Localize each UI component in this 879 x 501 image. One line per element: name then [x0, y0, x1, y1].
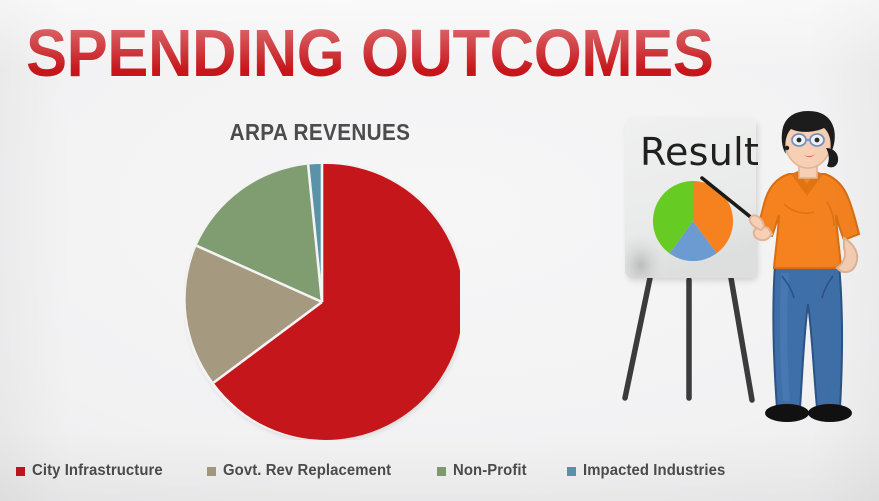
arpa-revenues-pie-chart [184, 164, 460, 440]
legend-label: Govt. Rev Replacement [223, 462, 391, 480]
presenter-illustration: Result [598, 108, 879, 453]
presenter-figure [750, 111, 859, 422]
presenter-hair-bun [826, 148, 838, 167]
presenter-earring-icon [785, 146, 789, 150]
legend-label: Impacted Industries [583, 462, 725, 480]
legend-item-impacted-industries[interactable]: Impacted Industries [567, 462, 736, 480]
slide-canvas: SPENDING OUTCOMES ARPA REVENUES [0, 0, 879, 501]
presenter-shoe-right [808, 404, 852, 422]
legend-item-govt-rev-replacement[interactable]: Govt. Rev Replacement [207, 462, 404, 480]
legend-swatch-icon [16, 467, 25, 476]
legend-item-city-infrastructure[interactable]: City Infrastructure [16, 462, 173, 480]
chart-legend: City Infrastructure Govt. Rev Replacemen… [16, 462, 656, 480]
presenter-shoe-left [765, 404, 809, 422]
presenter-eye-left [797, 138, 802, 143]
legend-label: City Infrastructure [32, 462, 163, 480]
legend-swatch-icon [207, 467, 216, 476]
presenter-eye-right [815, 138, 820, 143]
legend-swatch-icon [567, 467, 576, 476]
pie-svg [184, 164, 460, 440]
easel-legs [625, 278, 752, 400]
legend-swatch-icon [437, 467, 446, 476]
legend-item-non-profit[interactable]: Non-Profit [437, 462, 532, 480]
page-title: SPENDING OUTCOMES [26, 16, 713, 92]
legend-label: Non-Profit [453, 462, 527, 480]
chart-title: ARPA REVENUES [167, 119, 473, 146]
board-title: Result [640, 130, 759, 174]
